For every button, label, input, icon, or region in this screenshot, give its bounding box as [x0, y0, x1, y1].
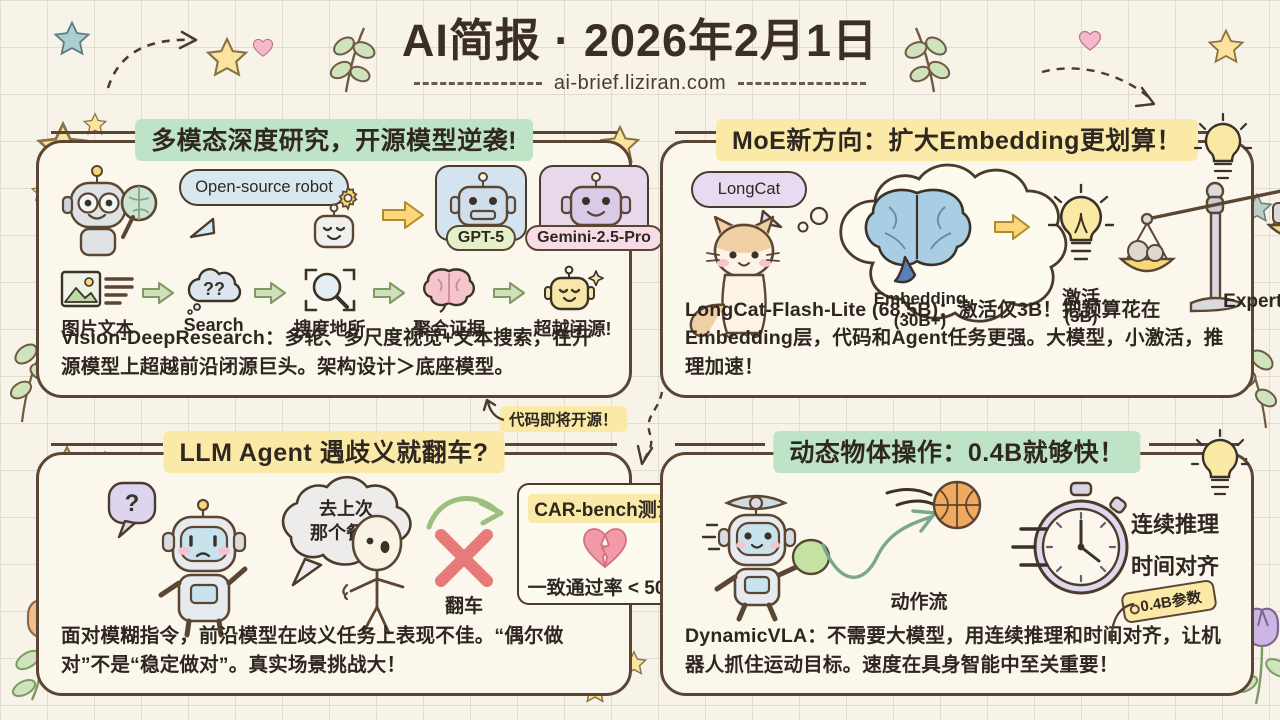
reasoning-line-1: 连续推理: [1131, 507, 1280, 539]
panel-2-heading: MoE新方向：扩大Embedding更划算！: [716, 119, 1198, 161]
bubble-tail-icon: [189, 217, 219, 241]
model-card-gemini[interactable]: Gemini-2.5-Pro: [539, 165, 649, 241]
param-tag-text: 0.4B参数: [1139, 589, 1203, 615]
lightbulb-icon: [1192, 112, 1254, 190]
model-label: GPT-5: [446, 225, 516, 251]
panel-4-heading: 动态物体操作：0.4B就够快！: [773, 431, 1140, 473]
dashed-arrow-icon: [100, 22, 210, 92]
car-bench-title: CAR-bench测试: [528, 494, 681, 523]
infographic-page: AI简报 · 2026年2月1日 ai-brief.liziran.com: [0, 0, 1280, 720]
model-badge-gemini: Gemini-2.5-Pro: [525, 225, 663, 251]
human-figure-icon: [333, 515, 417, 637]
panel-3-body: 面对模糊指令，前沿模型在歧义任务上表现不佳。“偶尔做对”不是“稳定做对”。真实场…: [61, 622, 607, 679]
motion-trajectory-icon: [821, 479, 1011, 599]
scholar-robot-icon: [57, 165, 165, 261]
panel-1-body: Vision-DeepResearch：多轮、多尺度视觉+文本搜索，在开源模型上…: [61, 324, 607, 381]
tag-string-icon: [1100, 600, 1140, 650]
flow-arrow-icon: [253, 265, 287, 305]
yellow-arrow-icon: [381, 199, 425, 231]
flow-arrow-icon: [492, 265, 526, 305]
model-badge-gpt5: GPT-5: [446, 225, 516, 251]
small-robot-icon: [307, 203, 361, 251]
svg-text:?: ?: [125, 490, 140, 517]
dashed-arrow-icon: [1040, 62, 1160, 122]
model-label: Gemini-2.5-Pro: [525, 225, 663, 251]
flow-arrow-icon: [372, 265, 406, 305]
site-url: ai-brief.liziran.com: [554, 72, 726, 95]
heart-pink-icon: [1078, 30, 1102, 52]
happy-robot-icon: [526, 265, 619, 315]
svg-text:??: ??: [203, 279, 225, 299]
star-teal-icon: [52, 20, 92, 60]
model-card-gpt5[interactable]: GPT-5: [435, 165, 527, 241]
action-flow-label: 动作流: [859, 587, 979, 614]
magnifier-scan-icon: [287, 265, 373, 315]
open-source-robot-bubble: Open-source robot: [179, 169, 349, 206]
page-title: AI简报 · 2026年2月1日: [402, 16, 878, 66]
sad-robot-icon: [149, 499, 261, 639]
star-yellow-icon: [204, 36, 250, 82]
brain-icon: [859, 187, 977, 285]
head-rule-left: [51, 443, 163, 446]
flow-arrow-icon: [141, 265, 175, 305]
panel-dynamic-manipulation[interactable]: 动态物体操作：0.4B就够快！: [660, 452, 1254, 696]
stopwatch-icon: [1019, 481, 1143, 605]
head-rule-left: [675, 443, 765, 446]
reasoning-line-2: 时间对齐: [1131, 549, 1280, 581]
red-cross-icon: [431, 527, 497, 589]
lightbulb-icon: [1045, 183, 1117, 279]
brain-icon: [406, 265, 492, 315]
star-yellow-icon: [82, 112, 108, 138]
panel-multimodal-research[interactable]: 多模态深度研究，开源模型逆袭!: [36, 140, 632, 398]
bubble-text: LongCat: [718, 180, 780, 198]
panel-4-body: DynamicVLA：不需要大模型，用连续推理和时间对齐，让机器人抓住运动目标。…: [685, 622, 1229, 679]
head-rule-left: [51, 131, 141, 134]
panel-llm-agent-ambiguity[interactable]: LLM Agent 遇歧义就翻车? ?: [36, 452, 632, 696]
head-rule-right: [505, 443, 617, 446]
fail-label: 翻车: [419, 591, 509, 618]
star-yellow-icon: [1206, 28, 1246, 68]
dash-divider-left: [414, 82, 542, 85]
panel-3-heading: LLM Agent 遇歧义就翻车?: [164, 431, 505, 473]
heart-pink-icon: [252, 38, 274, 58]
yellow-arrow-icon: [993, 213, 1031, 241]
dash-divider-right: [738, 82, 866, 85]
longcat-bubble: LongCat: [691, 171, 807, 208]
curved-pointer-icon: [482, 398, 508, 424]
panel-moe-embedding[interactable]: MoE新方向：扩大Embedding更划算！ LongCat: [660, 140, 1254, 398]
panel-2-body: LongCat-Flash-Lite (68.5B)：激活仅3B！把预算花在Em…: [685, 296, 1229, 381]
image-text-icon: [55, 265, 141, 315]
panel-1-heading: 多模态深度研究，开源模型逆袭!: [135, 119, 533, 161]
head-rule-right: [527, 131, 617, 134]
question-cloud-icon: ??: [175, 265, 253, 315]
note-tag-text: 代码即将开源！: [509, 412, 618, 429]
leaf-sprig-icon: [904, 24, 950, 96]
bubble-text: Open-source robot: [195, 178, 333, 196]
note-tag-open-source: 代码即将开源！: [500, 406, 627, 432]
leaf-sprig-icon: [330, 24, 376, 96]
lightbulb-icon: [1188, 428, 1252, 508]
